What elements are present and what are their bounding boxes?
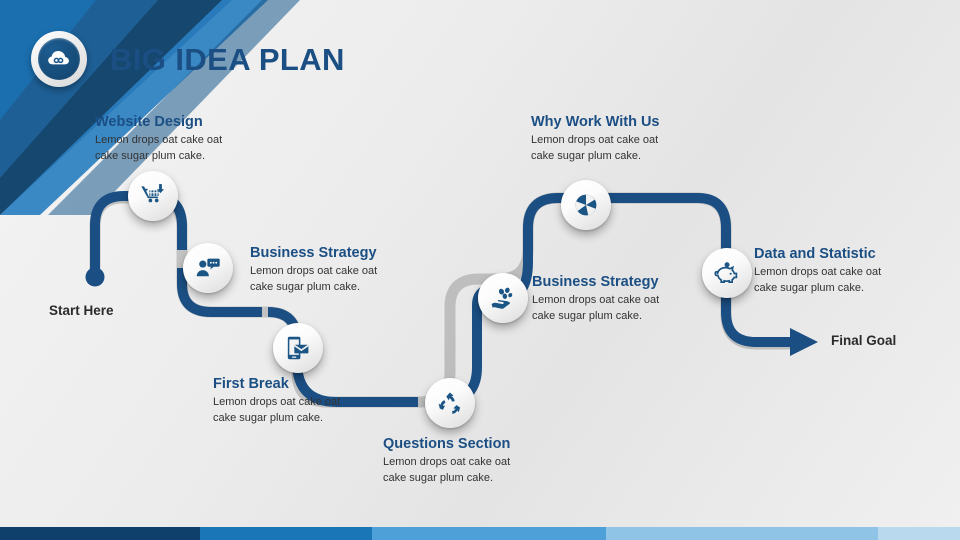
- strip-segment-4: [606, 527, 878, 540]
- final-arrow-head: [790, 328, 818, 356]
- recycle-icon: [437, 390, 463, 416]
- step-text-questions-section: Questions Section Lemon drops oat cake o…: [383, 436, 510, 486]
- step-body: Lemon drops oat cake oat cake sugar plum…: [250, 264, 377, 295]
- step-text-why-work-with-us: Why Work With Us Lemon drops oat cake oa…: [531, 114, 660, 164]
- page-title: BIG IDEA PLAN: [110, 42, 345, 78]
- person-speech-bubble-icon: [195, 255, 221, 281]
- strip-segment-3: [372, 527, 606, 540]
- step-title: Why Work With Us: [531, 114, 660, 130]
- step-icon-first-break[interactable]: [273, 323, 323, 373]
- strip-segment-2: [200, 527, 372, 540]
- step-body: Lemon drops oat cake oat cake sugar plum…: [532, 293, 659, 324]
- hand-coins-icon: [490, 285, 517, 312]
- strip-segment-1: [0, 527, 200, 540]
- step-title: Business Strategy: [250, 245, 377, 261]
- step-body: Lemon drops oat cake oat cake sugar plum…: [754, 265, 881, 296]
- step-text-business-strategy-1: Business Strategy Lemon drops oat cake o…: [250, 245, 377, 295]
- strip-segment-5: [878, 527, 960, 540]
- logo-badge: [31, 31, 87, 87]
- step-title: Data and Statistic: [754, 246, 881, 262]
- step-icon-website-design[interactable]: [128, 171, 178, 221]
- pie-chart-icon: [573, 192, 599, 218]
- bottom-color-strip: [0, 527, 960, 540]
- step-icon-business-strategy-2[interactable]: [478, 273, 528, 323]
- step-body: Lemon drops oat cake oat cake sugar plum…: [383, 455, 510, 486]
- step-body: Lemon drops oat cake oat cake sugar plum…: [95, 133, 222, 164]
- step-body: Lemon drops oat cake oat cake sugar plum…: [213, 395, 340, 426]
- step-title: Website Design: [95, 114, 222, 130]
- step-icon-questions-section[interactable]: [425, 378, 475, 428]
- step-title: First Break: [213, 376, 340, 392]
- step-icon-business-strategy-1[interactable]: [183, 243, 233, 293]
- step-body: Lemon drops oat cake oat cake sugar plum…: [531, 133, 660, 164]
- step-icon-data-and-statistic[interactable]: [702, 248, 752, 298]
- piggy-bank-icon: [714, 260, 741, 287]
- final-goal-label: Final Goal: [831, 333, 896, 348]
- start-dot: [86, 268, 105, 287]
- slide-canvas: Website Design Lemon drops oat cake oat …: [0, 0, 960, 540]
- step-text-website-design: Website Design Lemon drops oat cake oat …: [95, 114, 222, 164]
- step-icon-why-work-with-us[interactable]: [561, 180, 611, 230]
- step-text-first-break: First Break Lemon drops oat cake oat cak…: [213, 376, 340, 426]
- shopping-cart-download-icon: [140, 183, 166, 209]
- start-here-label: Start Here: [49, 303, 114, 318]
- step-title: Business Strategy: [532, 274, 659, 290]
- step-text-business-strategy-2: Business Strategy Lemon drops oat cake o…: [532, 274, 659, 324]
- infinity-cloud-icon: [38, 38, 80, 80]
- step-title: Questions Section: [383, 436, 510, 452]
- step-text-data-and-statistic: Data and Statistic Lemon drops oat cake …: [754, 246, 881, 296]
- mobile-mail-icon: [285, 335, 311, 361]
